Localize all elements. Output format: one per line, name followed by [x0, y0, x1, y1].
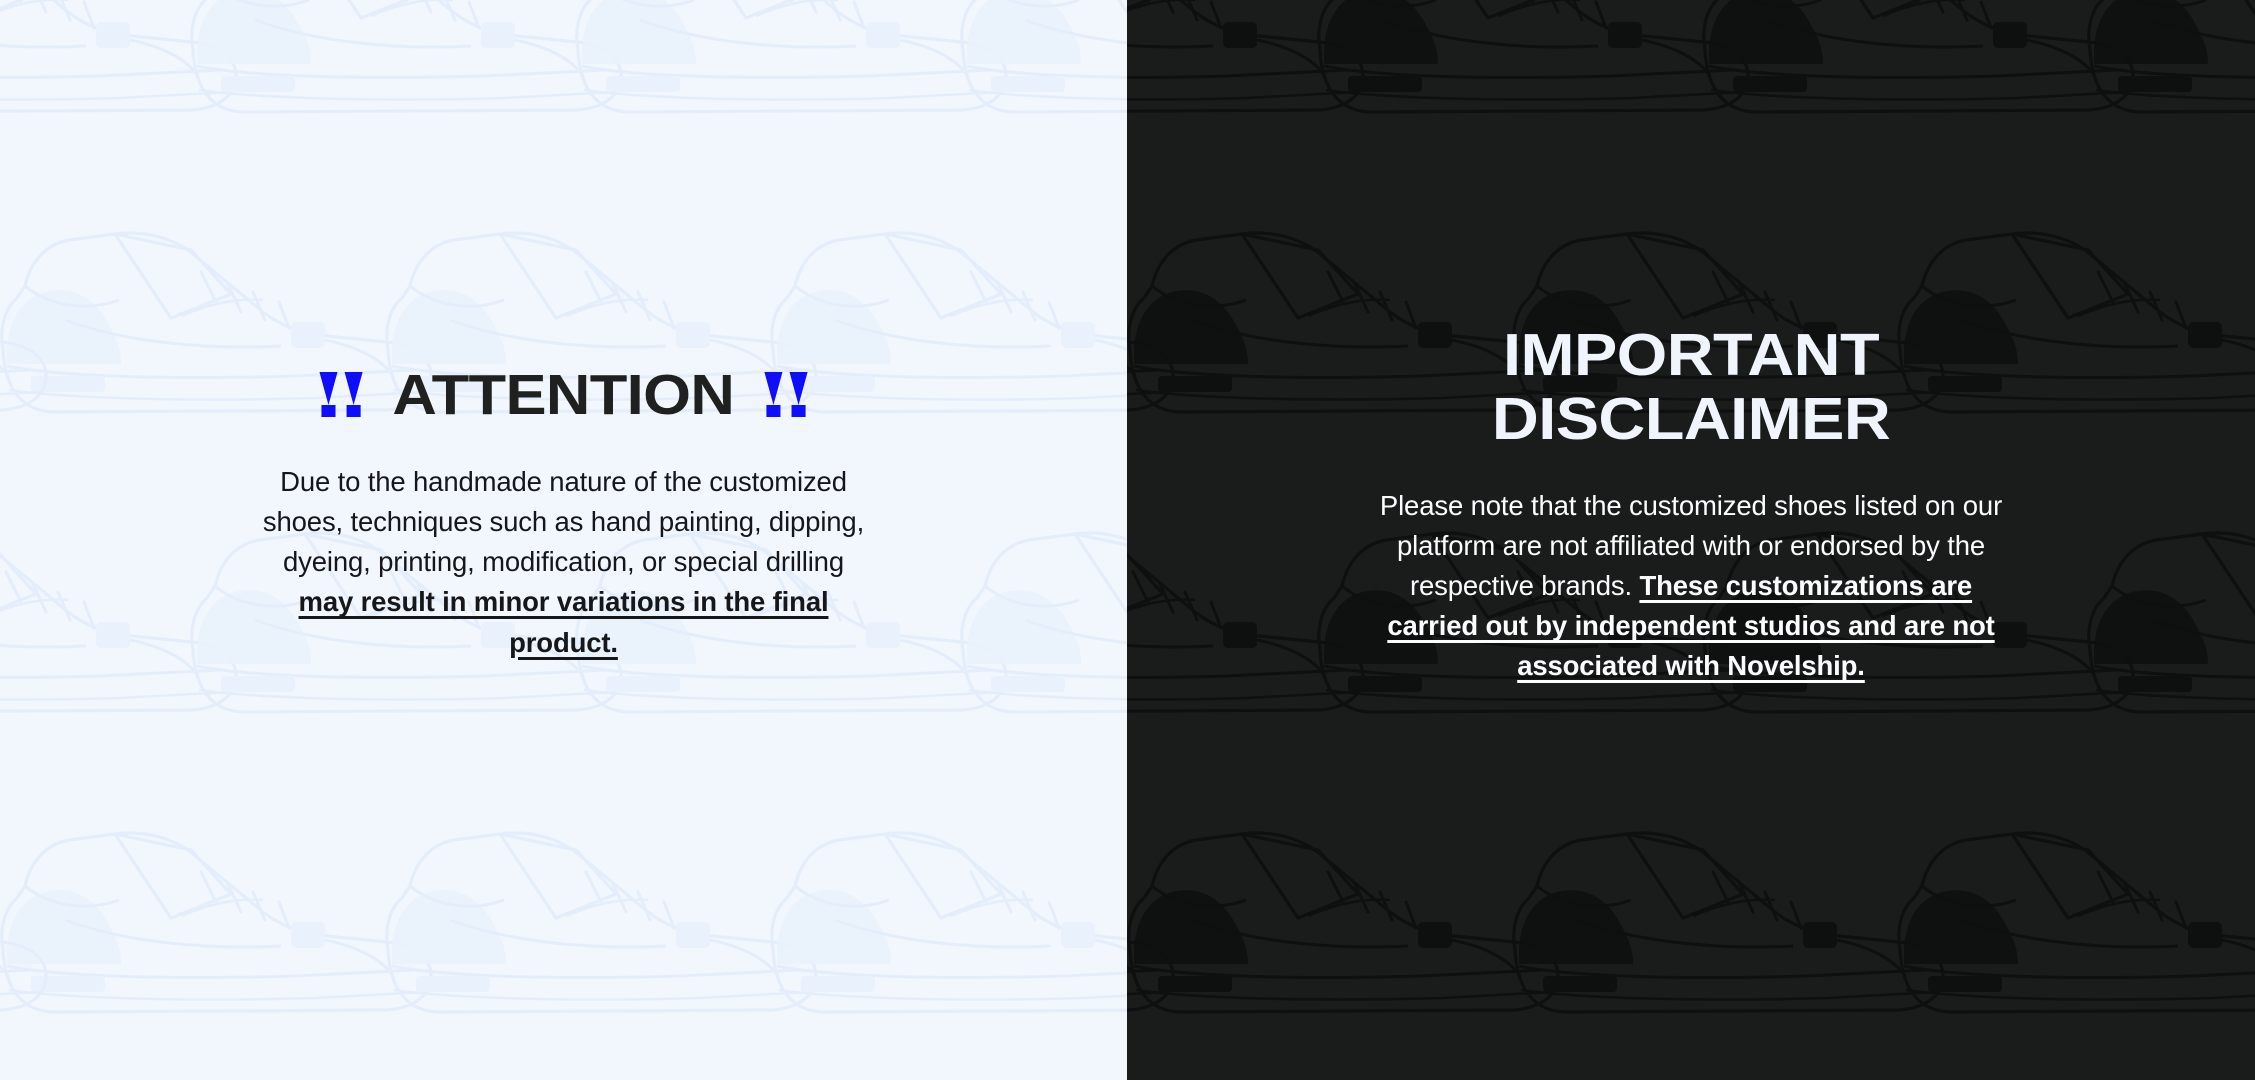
disclaimer-heading-line1: IMPORTANT	[1503, 325, 1879, 387]
double-exclamation-icon-left	[320, 372, 363, 417]
attention-body: Due to the handmade nature of the custom…	[254, 462, 874, 663]
attention-panel: ATTENTION Due to the handmade nature of …	[0, 0, 1127, 1080]
disclaimer-body: Please note that the customized shoes li…	[1371, 486, 2011, 687]
disclaimer-heading: IMPORTANT DISCLAIMER	[1492, 325, 1890, 451]
attention-body-emphasis: may result in minor variations in the fi…	[299, 586, 829, 657]
attention-heading-text: ATTENTION	[393, 367, 735, 424]
double-exclamation-icon-right	[764, 372, 807, 417]
attention-body-normal: Due to the handmade nature of the custom…	[263, 466, 864, 577]
disclaimer-panel: IMPORTANT DISCLAIMER Please note that th…	[1127, 0, 2255, 1080]
banner-stage: ATTENTION Due to the handmade nature of …	[0, 0, 2255, 1080]
disclaimer-heading-line2: DISCLAIMER	[1492, 389, 1890, 451]
attention-heading: ATTENTION	[318, 367, 809, 424]
attention-content: ATTENTION Due to the handmade nature of …	[0, 0, 1127, 663]
disclaimer-content: IMPORTANT DISCLAIMER Please note that th…	[1127, 0, 2255, 687]
